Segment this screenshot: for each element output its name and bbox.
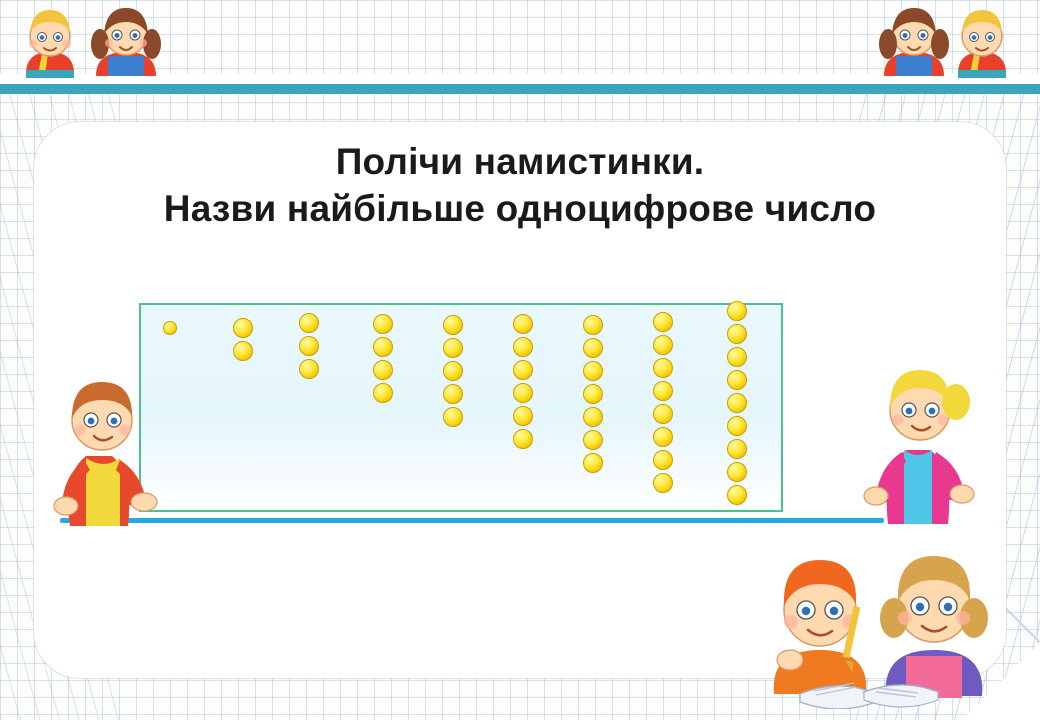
slide-root: Полічи намистинки. Назви найбільше одноц… xyxy=(0,0,1040,720)
bead xyxy=(653,358,673,378)
bead-board xyxy=(139,303,783,512)
bead xyxy=(299,336,319,356)
bead xyxy=(513,406,533,426)
bead xyxy=(513,383,533,403)
bead xyxy=(583,453,603,473)
bead xyxy=(513,429,533,449)
title-line-1: Полічи намистинки. xyxy=(34,138,1006,185)
bead xyxy=(163,321,177,335)
bead xyxy=(653,404,673,424)
bead xyxy=(513,337,533,357)
bead xyxy=(727,416,747,436)
bead xyxy=(583,315,603,335)
bead xyxy=(513,314,533,334)
bead xyxy=(513,360,533,380)
bead xyxy=(373,337,393,357)
bead xyxy=(443,315,463,335)
bead xyxy=(727,301,747,321)
bead xyxy=(727,485,747,505)
bead xyxy=(443,407,463,427)
bead xyxy=(583,384,603,404)
banner-kids-left xyxy=(8,0,198,85)
bead xyxy=(233,318,253,338)
kids-reading-figure xyxy=(744,544,1004,714)
bead xyxy=(583,338,603,358)
bead-column xyxy=(653,312,675,496)
bead xyxy=(653,381,673,401)
bead xyxy=(583,407,603,427)
boy-pointing-figure xyxy=(44,368,164,533)
bead-column xyxy=(233,318,255,364)
bead xyxy=(727,462,747,482)
board-baseline xyxy=(60,518,884,523)
bead xyxy=(583,361,603,381)
bead xyxy=(299,359,319,379)
bead xyxy=(653,450,673,470)
bead xyxy=(653,473,673,493)
bead xyxy=(727,347,747,367)
bead-column xyxy=(727,301,749,508)
bead xyxy=(727,439,747,459)
girl-pointing-figure xyxy=(852,356,982,531)
bead xyxy=(727,324,747,344)
bead xyxy=(299,313,319,333)
bead-column xyxy=(299,313,321,382)
bead-column xyxy=(443,315,465,430)
bead xyxy=(653,312,673,332)
bead xyxy=(653,335,673,355)
page-title: Полічи намистинки. Назви найбільше одноц… xyxy=(34,138,1006,233)
bead xyxy=(583,430,603,450)
bead xyxy=(233,341,253,361)
bead xyxy=(373,314,393,334)
banner-kids-right xyxy=(842,0,1032,85)
bead xyxy=(727,370,747,390)
bead-column xyxy=(373,314,395,406)
bead-column xyxy=(513,314,535,452)
bead xyxy=(443,384,463,404)
bead-column xyxy=(583,315,605,476)
bead xyxy=(443,338,463,358)
bead xyxy=(443,361,463,381)
bead xyxy=(373,360,393,380)
bead xyxy=(727,393,747,413)
bead xyxy=(373,383,393,403)
bead xyxy=(653,427,673,447)
bead-column xyxy=(163,321,185,338)
title-line-2: Назви найбільше одноцифрове число xyxy=(34,185,1006,232)
